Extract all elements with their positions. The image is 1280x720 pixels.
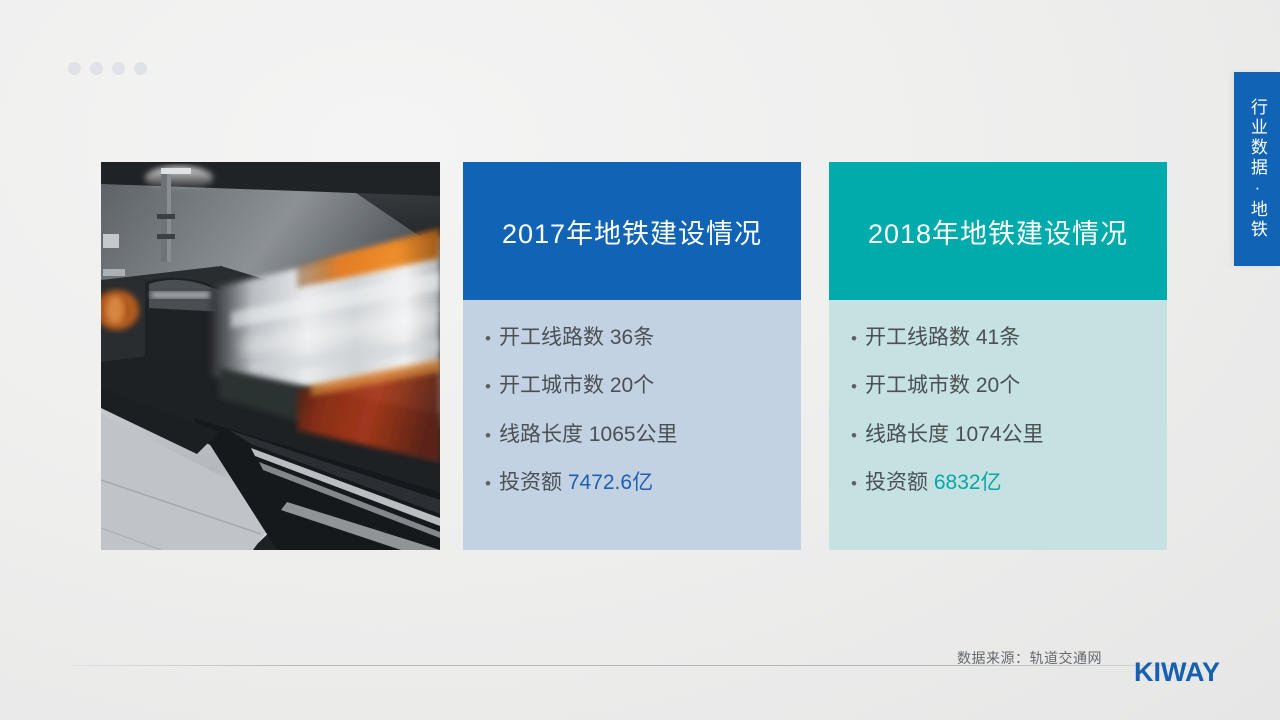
bullet-label: 投资额 7472.6亿: [499, 469, 653, 497]
card-body-2018: • 开工线路数 41条 • 开工城市数 20个 • 线路长度 1074公里 • …: [829, 300, 1167, 550]
decor-dot: [134, 62, 147, 75]
bullet-label: 开工城市数 20个: [865, 372, 1020, 400]
bullet-icon: •: [843, 376, 865, 399]
bullet-label: 线路长度 1065公里: [499, 421, 678, 449]
kiway-logo: KIWAY: [1134, 657, 1220, 688]
stats-card-2018: 2018年地铁建设情况 • 开工线路数 41条 • 开工城市数 20个 • 线路…: [829, 162, 1167, 550]
bullet-icon: •: [843, 473, 865, 496]
section-tab-label: 行业数据·地铁: [1248, 98, 1266, 240]
list-item: • 开工线路数 41条: [843, 324, 1167, 352]
bullet-icon: •: [843, 328, 865, 351]
list-item: • 开工城市数 20个: [477, 372, 801, 400]
list-item: • 线路长度 1065公里: [477, 421, 801, 449]
subway-photo: [101, 162, 440, 550]
bullet-icon: •: [477, 376, 499, 399]
card-header-2017: 2017年地铁建设情况: [463, 162, 801, 300]
list-item: • 投资额 6832亿: [843, 469, 1167, 497]
decor-dot: [90, 62, 103, 75]
investment-value-2018: 6832亿: [934, 471, 1002, 494]
list-item: • 开工城市数 20个: [843, 372, 1167, 400]
bullet-icon: •: [477, 328, 499, 351]
bullet-label: 线路长度 1074公里: [865, 421, 1044, 449]
decor-dot: [112, 62, 125, 75]
investment-value-2017: 7472.6亿: [568, 471, 653, 494]
card-title-2017: 2017年地铁建设情况: [502, 212, 762, 251]
card-body-2017: • 开工线路数 36条 • 开工城市数 20个 • 线路长度 1065公里 • …: [463, 300, 801, 550]
card-header-2018: 2018年地铁建设情况: [829, 162, 1167, 300]
bullet-label: 开工城市数 20个: [499, 372, 654, 400]
card-title-2018: 2018年地铁建设情况: [868, 212, 1128, 251]
list-item: • 投资额 7472.6亿: [477, 469, 801, 497]
stats-card-2017: 2017年地铁建设情况 • 开工线路数 36条 • 开工城市数 20个 • 线路…: [463, 162, 801, 550]
section-tab-industry-data: 行业数据·地铁: [1234, 72, 1280, 266]
subway-photo-illustration: [101, 162, 440, 550]
list-item: • 线路长度 1074公里: [843, 421, 1167, 449]
decorative-dots: [68, 62, 147, 75]
bullet-icon: •: [843, 425, 865, 448]
data-source-label: 数据来源：轨道交通网: [957, 648, 1102, 668]
bullet-icon: •: [477, 473, 499, 496]
list-item: • 开工线路数 36条: [477, 324, 801, 352]
bullet-icon: •: [477, 425, 499, 448]
bullet-label: 开工线路数 41条: [865, 324, 1020, 352]
decor-dot: [68, 62, 81, 75]
bullet-label: 开工线路数 36条: [499, 324, 654, 352]
bullet-label: 投资额 6832亿: [865, 469, 1002, 497]
